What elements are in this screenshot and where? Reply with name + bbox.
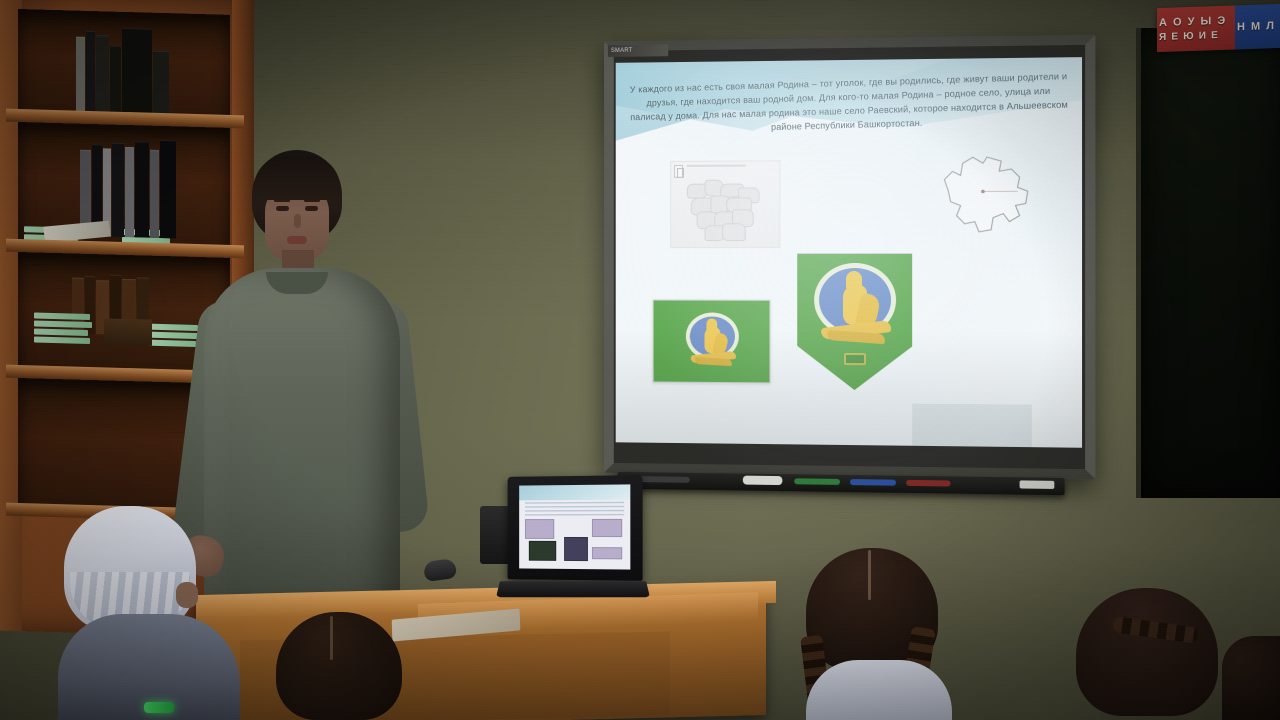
interactive-whiteboard[interactable]: SMART У каждого из нас есть своя малая Р… [604,35,1095,480]
pen-green[interactable] [794,478,840,485]
slide-placeholder-box [912,404,1032,448]
poster-red-panel: А О У Ы Э Я Е Ю И Е [1157,5,1235,52]
coat-of-arms-alsheyevsky-image [797,253,912,391]
district-outline-svg [930,151,1042,248]
map-inset-box [674,165,683,178]
shelf-brown-stack [104,318,152,345]
student-head [276,612,402,720]
laptop-lid [508,475,643,581]
student-head [1222,636,1280,720]
slide-images [616,159,1082,448]
student-with-headscarf [58,506,238,720]
poster-blue-panel: Н М Л [1235,4,1280,50]
teacher-mouth [287,236,307,244]
teacher-eye-right [305,206,318,211]
teacher-fringe [254,156,340,200]
teacher-eye-left [276,206,289,211]
laptop-slide-thumb-5 [592,547,622,559]
student-hair-part [330,616,333,660]
student-dark-hair-left [268,612,418,720]
coa-base-ornament [844,353,866,365]
map-caption-line [687,165,746,167]
student-braids-center [780,548,970,720]
classroom-photo: А О У Ы Э Я Е Ю И Е Н М Л SMART У каждог… [0,0,1280,720]
tray-button-panel[interactable] [1020,480,1055,489]
map-bashkortostan-image [670,160,780,248]
flag-alsheyevsky-image [653,299,771,383]
student-ear [176,582,198,608]
laptop-keyboard-base[interactable] [496,581,650,597]
bookcase-shelf-1 [18,9,230,121]
laptop-slide-thumb-1 [525,519,554,539]
student-partial-far-right [1222,636,1280,720]
laptop-slide-thumb-2 [592,519,622,537]
student-braids-right [1064,588,1234,720]
cyrillic-vowels-poster: А О У Ы Э Я Е Ю И Е Н М Л [1157,4,1280,52]
green-marker [144,702,174,713]
laptop[interactable] [498,476,648,608]
pen-red[interactable] [906,480,950,487]
laptop-slide-header [519,484,630,500]
shelf-green-notebooks [34,312,92,344]
whiteboard-screen[interactable]: У каждого из нас есть своя малая Родина … [616,57,1082,448]
flag-emblem [685,311,740,373]
whiteboard-brand-label: SMART [608,44,668,57]
student-hair-part [868,550,871,600]
map-alsheyevsky-district-image [930,151,1042,248]
laptop-slide-text [525,502,624,516]
laptop-slide-thumb-3 [529,541,556,561]
student-shirt [806,660,952,720]
student-head [1076,588,1218,716]
pen-blue[interactable] [850,479,896,486]
poster-row-soft-vowels: Я Е Ю И Е [1159,28,1233,44]
eraser[interactable] [743,476,783,486]
presentation-slide: У каждого из нас есть своя малая Родина … [616,57,1082,448]
poster-row-consonants: Н М Л [1237,18,1280,34]
laptop-slide-thumb-4 [564,537,588,561]
chalkboard [1136,28,1280,498]
laptop-screen[interactable] [519,484,630,569]
coa-emblem [813,262,897,354]
teacher-nose [294,214,301,228]
shelf-books [76,27,169,118]
